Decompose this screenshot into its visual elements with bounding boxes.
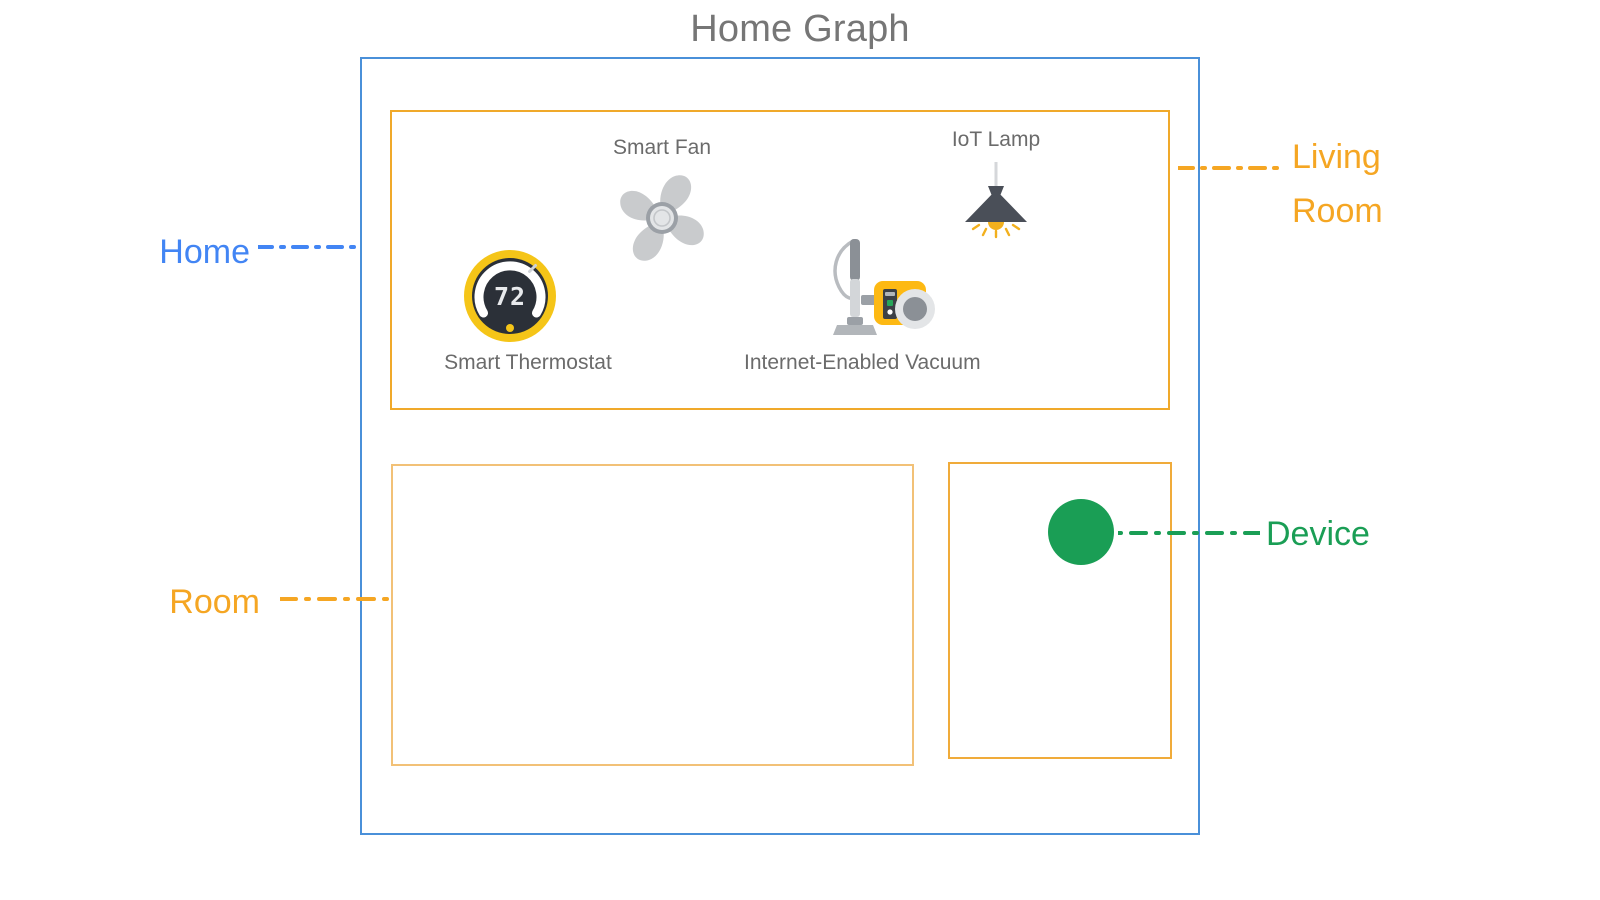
thermostat-reading: 72 (494, 282, 526, 311)
device-label-internet-enabled-vacuum: Internet-Enabled Vacuum (744, 351, 1008, 375)
callout-label-home: Home (40, 226, 250, 280)
device-label-iot-lamp: IoT Lamp (884, 128, 1108, 152)
device-label-smart-thermostat: Smart Thermostat (416, 351, 640, 375)
leader-line-device (1118, 526, 1260, 538)
leader-line-home (258, 240, 362, 252)
vacuum-icon (825, 233, 935, 338)
device-label-smart-fan: Smart Fan (550, 136, 774, 160)
leader-line-room (280, 592, 392, 604)
callout-label-living-room: Living Room (1292, 131, 1522, 238)
leader-line-living-room (1178, 161, 1284, 173)
fan-icon (609, 168, 715, 268)
page-title: Home Graph (0, 8, 1600, 51)
thermostat-icon: 72 (463, 249, 557, 343)
lamp-icon (955, 160, 1037, 242)
room-box-empty (391, 464, 914, 766)
callout-label-device: Device (1266, 508, 1496, 562)
device-dot-icon (1048, 499, 1114, 565)
callout-label-room: Room (40, 576, 260, 630)
